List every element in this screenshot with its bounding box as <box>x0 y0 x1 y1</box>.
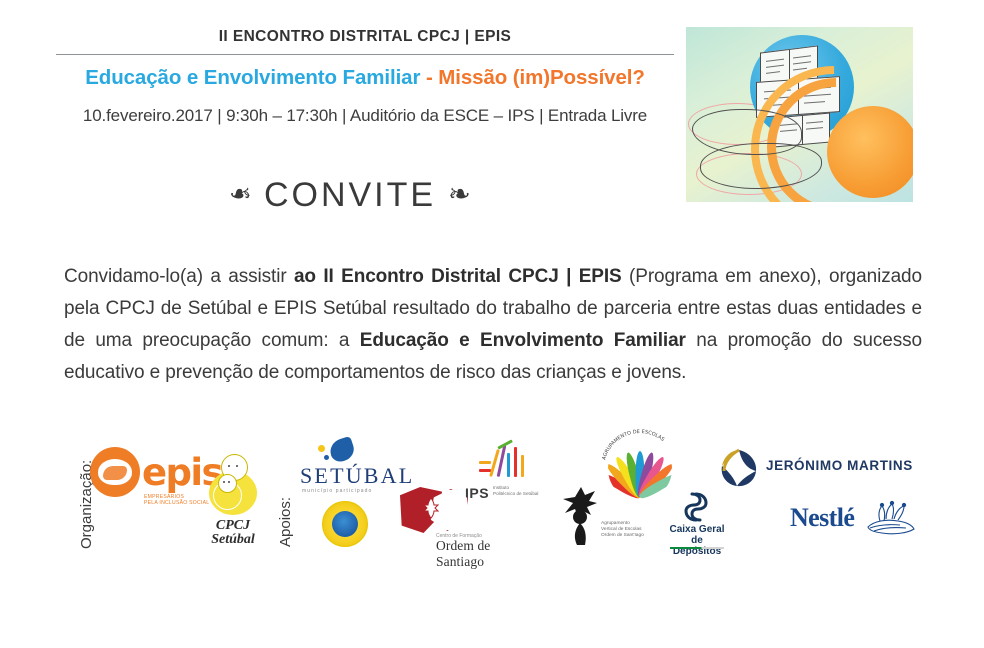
header-text-column: II ENCONTRO DISTRITAL CPCJ | EPIS Educaç… <box>56 28 674 126</box>
jeronimo-martins-wordmark: JERÓNIMO MARTINS <box>766 458 913 473</box>
apoios-label: Apoios: <box>277 497 294 547</box>
event-subtitle: Educação e Envolvimento Familiar - Missã… <box>56 66 674 90</box>
setubal-drop-icon <box>327 436 357 464</box>
ordem-santiago-wordmark: Ordem de Santiago <box>436 538 535 570</box>
ips-graphic-icon <box>477 443 533 483</box>
caixa-geral-underline <box>670 547 724 549</box>
setubal-dot-yellow-icon <box>318 445 325 452</box>
body-segment-0: Convidamo-lo(a) a assistir <box>64 266 294 287</box>
logo-epis: epis EMPRESÁRIOS PELA INCLUSÃO SOCIAL <box>90 447 215 509</box>
nestle-nest-birds-icon <box>864 497 916 539</box>
agrupamento-vertical-wordmark: Agrupamento Vertical de Escolas Ordem de… <box>601 521 644 539</box>
event-details-line: 10.fevereiro.2017 | 9:30h – 17:30h | Aud… <box>56 106 674 126</box>
logo-caixa-geral-depositos: Caixa Geral de Depósitos <box>668 491 728 553</box>
header-illustration <box>686 27 913 202</box>
logo-agrupamento-vertical: Agrupamento Vertical de Escolas Ordem de… <box>555 485 675 557</box>
convite-heading: ❧CONVITE❧ <box>0 176 700 215</box>
nestle-wordmark: Nestlé <box>790 503 854 533</box>
event-kicker: II ENCONTRO DISTRITAL CPCJ | EPIS <box>56 28 674 54</box>
epis-hands-icon <box>90 447 140 497</box>
illustration-sun <box>827 106 913 198</box>
cpcj-child-head-icon <box>218 474 237 493</box>
subtitle-orange-part: Missão (im)Possível? <box>438 66 644 89</box>
setubal-seal-icon <box>322 501 368 547</box>
cpcj-wordmark-line-2: Setúbal <box>205 533 261 547</box>
caixa-geral-line-1: Caixa Geral <box>668 524 726 535</box>
svg-text:AGRUPAMENTO DE ESCOLAS: AGRUPAMENTO DE ESCOLAS <box>601 429 665 461</box>
header-divider <box>56 54 674 55</box>
logo-nestle: Nestlé <box>790 503 930 549</box>
caixa-geral-wordmark: Caixa Geral de Depósitos <box>668 524 726 557</box>
setubal-wordmark: SETÚBAL <box>300 465 414 487</box>
convite-title: CONVITE <box>264 176 436 214</box>
invitation-body-text: Convidamo-lo(a) a assistir ao II Encontr… <box>64 261 922 389</box>
logo-cpcj-setubal: CPCJ Setúbal <box>203 465 265 551</box>
floral-ornament-left-icon: ❧ <box>229 179 252 210</box>
body-segment-1: ao II Encontro Distrital CPCJ | EPIS <box>294 266 622 287</box>
epis-tagline: EMPRESÁRIOS PELA INCLUSÃO SOCIAL <box>144 494 209 507</box>
floral-ornament-right-icon: ❧ <box>448 179 471 210</box>
epis-tagline-line-2: PELA INCLUSÃO SOCIAL <box>144 500 209 506</box>
footer-logos: Organização: Apoios: epis EMPRESÁRIOS PE… <box>0 425 984 565</box>
agrupamento-vertical-figure-icon <box>561 485 605 547</box>
logo-jeronimo-martins: JERÓNIMO MARTINS <box>718 447 918 495</box>
subtitle-separator: - <box>420 66 438 89</box>
caixa-geral-mark-icon <box>680 491 712 523</box>
cpcj-wordmark-line-1: CPCJ <box>205 519 261 533</box>
logo-ordem-de-santiago: Centro de Formação Ordem de Santiago <box>400 485 535 557</box>
cpcj-wordmark: CPCJ Setúbal <box>205 519 261 547</box>
jeronimo-martins-mark-icon <box>718 447 760 489</box>
ordem-santiago-cross-icon <box>422 497 440 519</box>
caixa-geral-line-2: de Depósitos <box>668 535 726 557</box>
subtitle-blue-part: Educação e Envolvimento Familiar <box>85 66 420 89</box>
body-segment-3: Educação e Envolvimento Familiar <box>360 330 686 351</box>
logo-setubal-municipio: SETÚBAL município participado <box>300 439 395 551</box>
setubal-dot-blue-icon <box>324 455 329 460</box>
setubal-subtitle: município participado <box>302 488 372 494</box>
agrupamento-vertical-line-3: Ordem de Sant'Iago <box>601 533 644 539</box>
